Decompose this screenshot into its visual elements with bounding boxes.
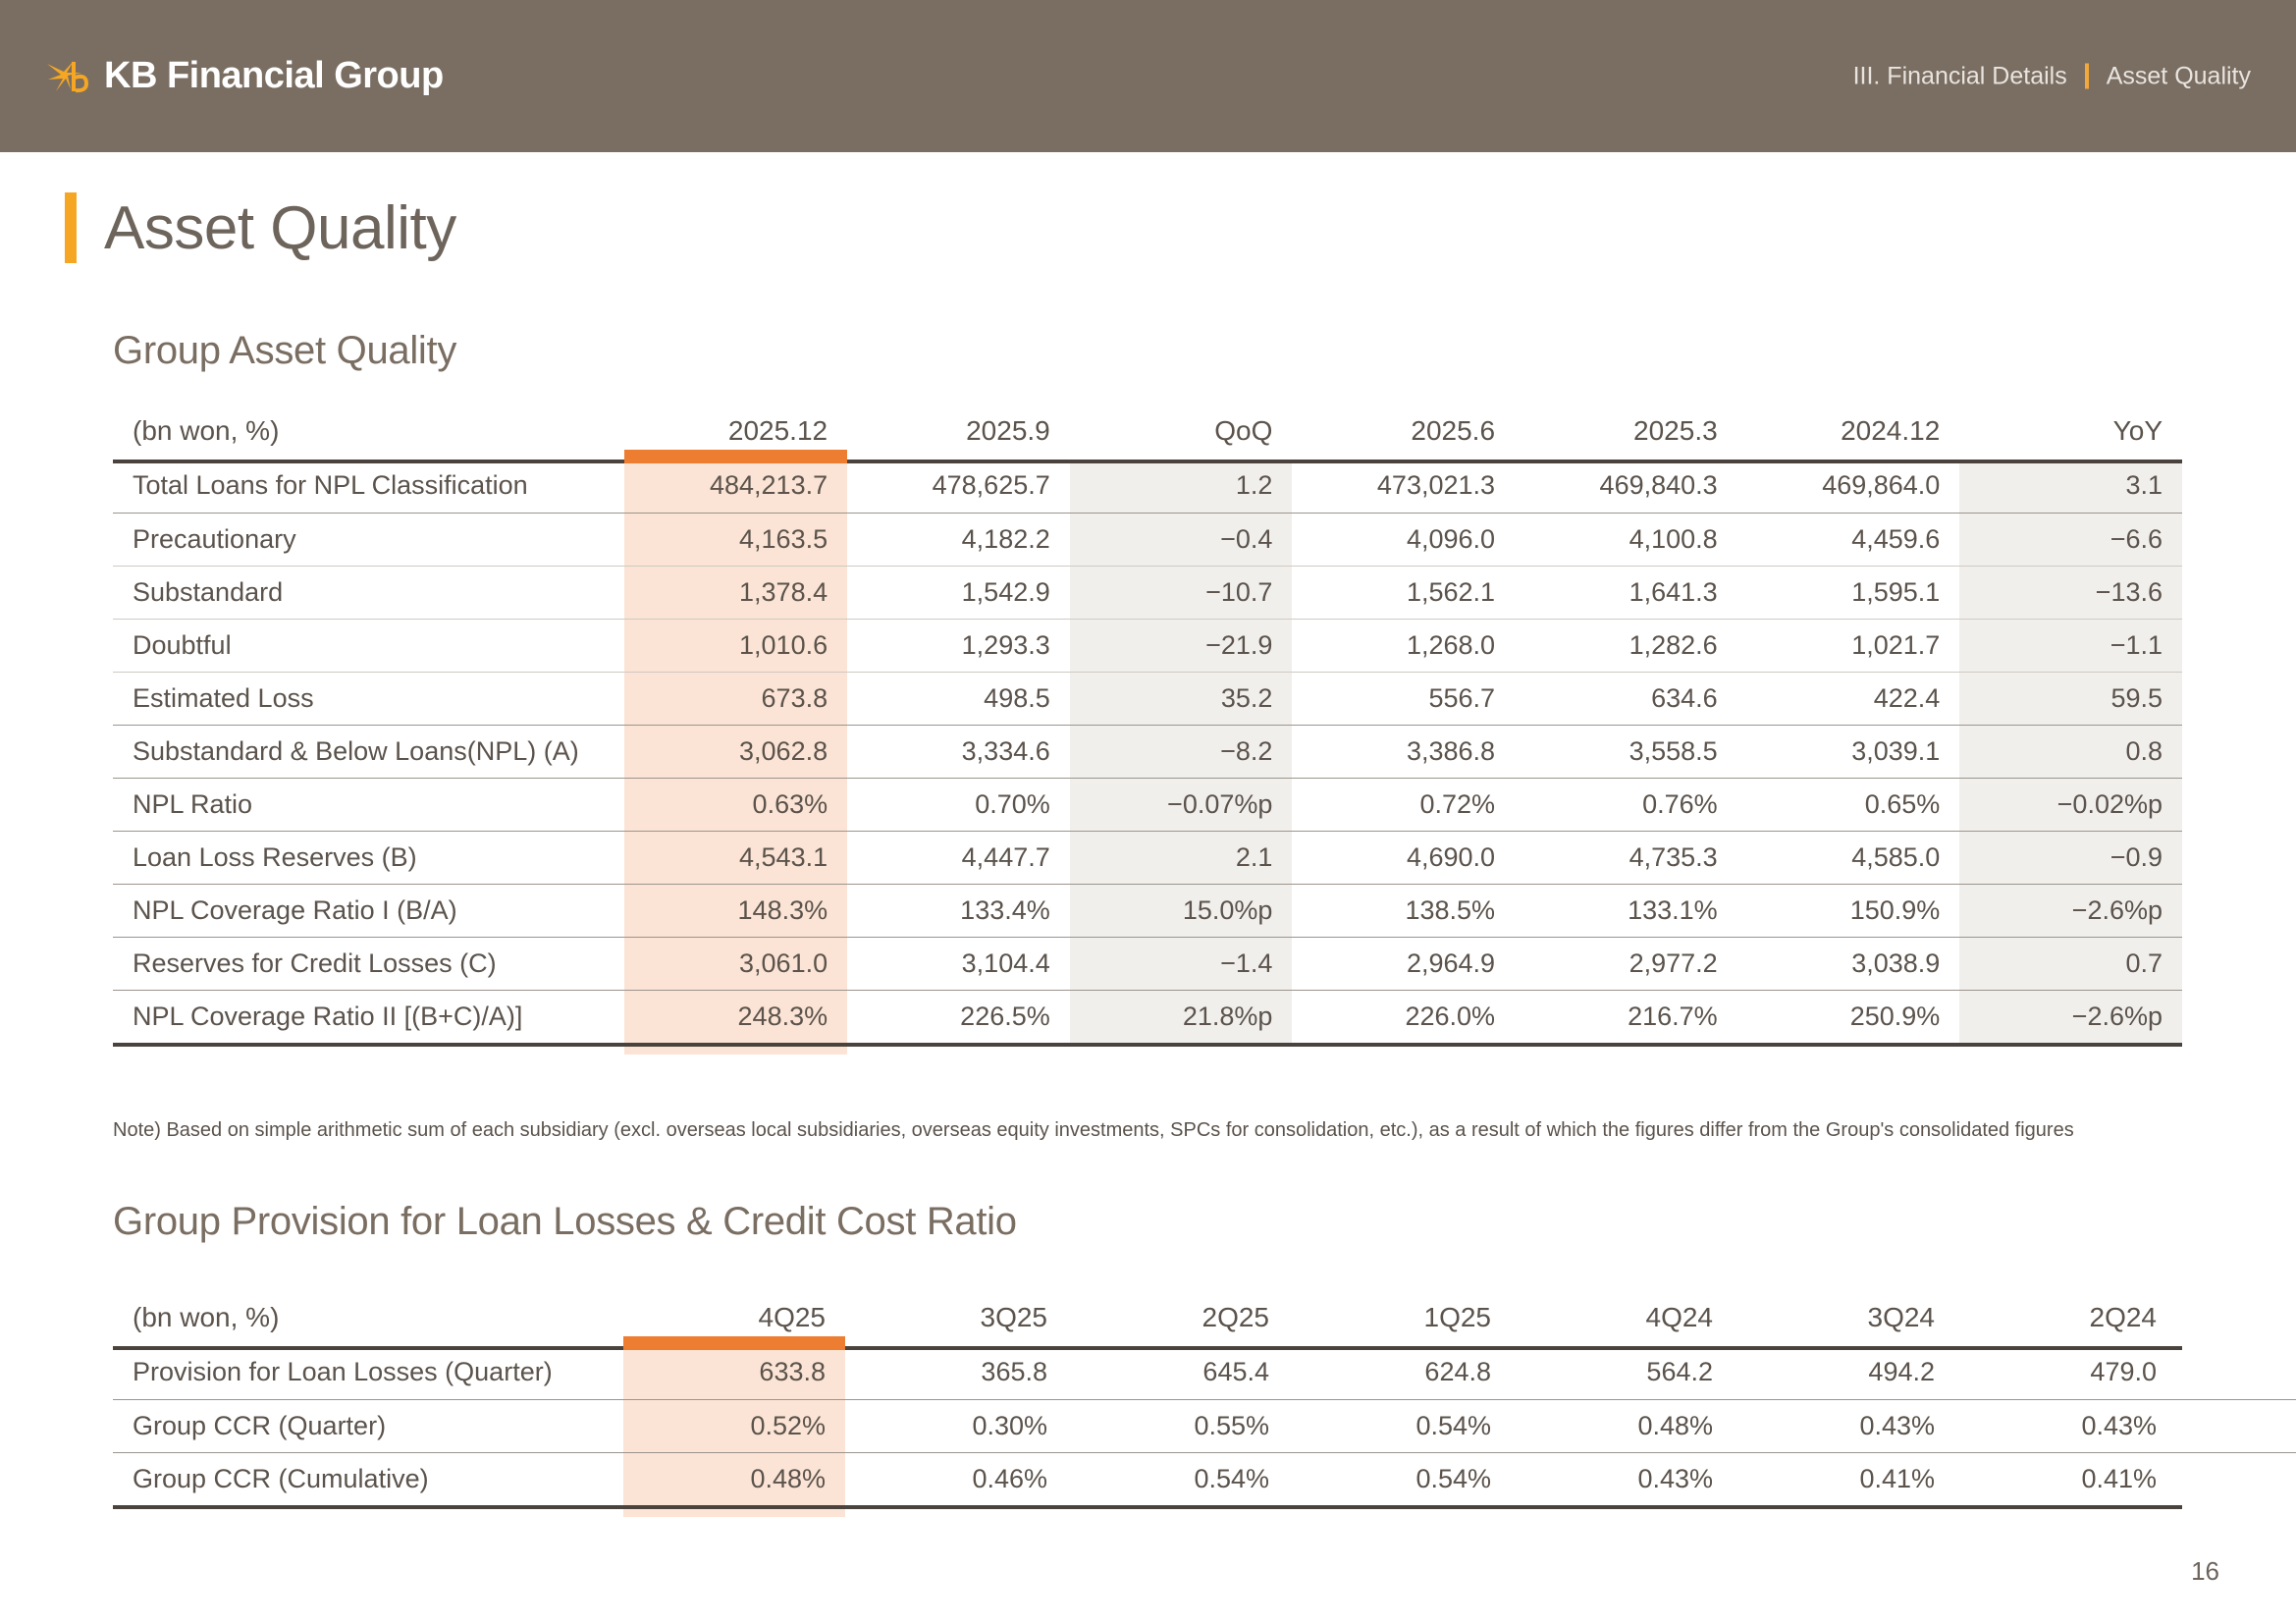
cell-2025-6: 138.5% xyxy=(1292,884,1515,937)
cell-qoq: 1.2 xyxy=(1070,460,1293,513)
cell-3q25: 0.46% xyxy=(845,1452,1067,1505)
column-header-2q24: 2Q24 xyxy=(1954,1289,2176,1346)
cell-2025-12: 4,543.1 xyxy=(624,831,847,884)
cell-2025-6: 473,021.3 xyxy=(1292,460,1515,513)
cell-yoy: 0.7 xyxy=(1959,937,2182,990)
cell-1q25: 0.54% xyxy=(1289,1399,1511,1452)
cell-1q25: 624.8 xyxy=(1289,1346,1511,1399)
cell-qoq: −21.9 xyxy=(1070,619,1293,672)
cell-2025-6: 0.72% xyxy=(1292,778,1515,831)
cell-2q25: 0.54% xyxy=(1067,1452,1289,1505)
row-label: Doubtful xyxy=(113,619,624,672)
cell-2q24: 0.41% xyxy=(1954,1452,2176,1505)
cell-2024-12: 4,585.0 xyxy=(1737,831,1960,884)
cell-2025-3: 216.7% xyxy=(1515,990,1737,1043)
cell-3q24: 0.41% xyxy=(1733,1452,1954,1505)
cell-2025-12: 1,378.4 xyxy=(624,566,847,619)
cell-2q25: 645.4 xyxy=(1067,1346,1289,1399)
highlight-column-cap xyxy=(624,1047,847,1055)
cell-3q24: 494.2 xyxy=(1733,1346,1954,1399)
cell-2025-9: 3,334.6 xyxy=(847,725,1070,778)
cell-qoq: 15.0%p xyxy=(1070,884,1293,937)
table-row: Group CCR (Cumulative)0.48%0.46%0.54%0.5… xyxy=(113,1452,2296,1505)
cell-2025-3: 1,282.6 xyxy=(1515,619,1737,672)
table-row: Substandard1,378.41,542.9−10.71,562.11,6… xyxy=(113,566,2182,619)
table-row: Loan Loss Reserves (B)4,543.14,447.72.14… xyxy=(113,831,2182,884)
column-header-qoq: QoQ xyxy=(1070,403,1293,460)
cell-qoq: 21.8%p xyxy=(1070,990,1293,1043)
cell-yoy: −2.6%p xyxy=(1959,990,2182,1043)
table-row: Total Loans for NPL Classification484,21… xyxy=(113,460,2182,513)
cell-yoy: −0.9 xyxy=(1959,831,2182,884)
breadcrumb-section: III. Financial Details xyxy=(1853,62,2067,90)
cell-yoy: 59.5 xyxy=(1959,672,2182,725)
page-title-block: Asset Quality xyxy=(65,192,456,263)
cell-1q24: 0.38% xyxy=(2176,1399,2296,1452)
title-accent-bar xyxy=(65,192,77,263)
cell-2024-12: 3,039.1 xyxy=(1737,725,1960,778)
cell-2025-9: 4,447.7 xyxy=(847,831,1070,884)
header-bar: KB Financial Group III. Financial Detail… xyxy=(0,0,2296,152)
cell-2025-9: 1,293.3 xyxy=(847,619,1070,672)
cell-qoq: −10.7 xyxy=(1070,566,1293,619)
cell-4q25: 633.8 xyxy=(623,1346,845,1399)
cell-2q24: 0.43% xyxy=(1954,1399,2176,1452)
row-label: NPL Coverage Ratio II [(B+C)/A)] xyxy=(113,990,624,1043)
cell-2024-12: 3,038.9 xyxy=(1737,937,1960,990)
column-header-1q24: 1Q24 xyxy=(2176,1289,2296,1346)
cell-2024-12: 1,021.7 xyxy=(1737,619,1960,672)
row-label: Provision for Loan Losses (Quarter) xyxy=(113,1346,623,1399)
cell-2025-3: 2,977.2 xyxy=(1515,937,1737,990)
footnote: Note) Based on simple arithmetic sum of … xyxy=(113,1119,2074,1142)
cell-qoq: −0.07%p xyxy=(1070,778,1293,831)
row-label: Precautionary xyxy=(113,513,624,566)
cell-2025-6: 3,386.8 xyxy=(1292,725,1515,778)
cell-2025-9: 226.5% xyxy=(847,990,1070,1043)
kb-star-logo-icon xyxy=(41,54,92,99)
cell-qoq: 2.1 xyxy=(1070,831,1293,884)
breadcrumb-separator-icon xyxy=(2085,64,2089,89)
table-header: (bn won, %)2025.122025.9QoQ2025.62025.32… xyxy=(113,403,2182,460)
cell-2024-12: 250.9% xyxy=(1737,990,1960,1043)
highlight-column-tab xyxy=(623,1336,845,1350)
cell-yoy: −1.1 xyxy=(1959,619,2182,672)
column-header-unit: (bn won, %) xyxy=(113,1289,623,1346)
cell-2025-12: 0.63% xyxy=(624,778,847,831)
group-provision-table-wrap: (bn won, %)4Q253Q252Q251Q254Q243Q242Q241… xyxy=(113,1289,2182,1505)
cell-2025-12: 673.8 xyxy=(624,672,847,725)
cell-2025-9: 3,104.4 xyxy=(847,937,1070,990)
cell-qoq: −8.2 xyxy=(1070,725,1293,778)
cell-2025-9: 4,182.2 xyxy=(847,513,1070,566)
cell-yoy: 0.8 xyxy=(1959,725,2182,778)
row-label: Substandard & Below Loans(NPL) (A) xyxy=(113,725,624,778)
cell-2024-12: 422.4 xyxy=(1737,672,1960,725)
cell-2025-6: 4,096.0 xyxy=(1292,513,1515,566)
section-heading-group-asset-quality: Group Asset Quality xyxy=(113,329,456,373)
table-row: Doubtful1,010.61,293.3−21.91,268.01,282.… xyxy=(113,619,2182,672)
column-header-1q25: 1Q25 xyxy=(1289,1289,1511,1346)
cell-2025-6: 1,268.0 xyxy=(1292,619,1515,672)
table-row: Estimated Loss673.8498.535.2556.7634.642… xyxy=(113,672,2182,725)
cell-2025-12: 3,061.0 xyxy=(624,937,847,990)
cell-2025-3: 3,558.5 xyxy=(1515,725,1737,778)
row-label: NPL Coverage Ratio I (B/A) xyxy=(113,884,624,937)
cell-2q25: 0.55% xyxy=(1067,1399,1289,1452)
row-label: Substandard xyxy=(113,566,624,619)
cell-2025-12: 248.3% xyxy=(624,990,847,1043)
cell-2025-3: 634.6 xyxy=(1515,672,1737,725)
highlight-column-tab xyxy=(624,450,847,463)
cell-1q25: 0.54% xyxy=(1289,1452,1511,1505)
cell-2024-12: 4,459.6 xyxy=(1737,513,1960,566)
cell-4q24: 564.2 xyxy=(1511,1346,1733,1399)
table-bottom-rule xyxy=(113,1505,2182,1509)
row-label: Group CCR (Cumulative) xyxy=(113,1452,623,1505)
table-row: NPL Coverage Ratio II [(B+C)/A)]248.3%22… xyxy=(113,990,2182,1043)
column-header-2025-9: 2025.9 xyxy=(847,403,1070,460)
brand-logo: KB Financial Group xyxy=(41,54,444,99)
cell-2024-12: 0.65% xyxy=(1737,778,1960,831)
group-asset-quality-table: (bn won, %)2025.122025.9QoQ2025.62025.32… xyxy=(113,403,2182,1043)
cell-2025-6: 226.0% xyxy=(1292,990,1515,1043)
cell-2025-3: 4,100.8 xyxy=(1515,513,1737,566)
group-provision-table: (bn won, %)4Q253Q252Q251Q254Q243Q242Q241… xyxy=(113,1289,2296,1505)
cell-2025-12: 484,213.7 xyxy=(624,460,847,513)
cell-3q25: 365.8 xyxy=(845,1346,1067,1399)
table-header-row: (bn won, %)4Q253Q252Q251Q254Q243Q242Q241… xyxy=(113,1289,2296,1346)
cell-2025-12: 4,163.5 xyxy=(624,513,847,566)
cell-4q24: 0.48% xyxy=(1511,1399,1733,1452)
table-row: Group CCR (Quarter)0.52%0.30%0.55%0.54%0… xyxy=(113,1399,2296,1452)
cell-1q24: 420.0 xyxy=(2176,1346,2296,1399)
cell-yoy: −2.6%p xyxy=(1959,884,2182,937)
cell-4q25: 0.48% xyxy=(623,1452,845,1505)
cell-2025-3: 1,641.3 xyxy=(1515,566,1737,619)
table-body: Provision for Loan Losses (Quarter)633.8… xyxy=(113,1346,2296,1505)
table-row: Precautionary4,163.54,182.2−0.44,096.04,… xyxy=(113,513,2182,566)
cell-2025-9: 133.4% xyxy=(847,884,1070,937)
table-top-rule xyxy=(113,460,2182,463)
breadcrumb-page: Asset Quality xyxy=(2107,62,2251,90)
table-row: Substandard & Below Loans(NPL) (A)3,062.… xyxy=(113,725,2182,778)
cell-2025-6: 4,690.0 xyxy=(1292,831,1515,884)
brand-name: KB Financial Group xyxy=(104,55,444,97)
cell-2025-9: 0.70% xyxy=(847,778,1070,831)
cell-2025-6: 2,964.9 xyxy=(1292,937,1515,990)
table-row: Provision for Loan Losses (Quarter)633.8… xyxy=(113,1346,2296,1399)
breadcrumb: III. Financial Details Asset Quality xyxy=(1853,62,2251,90)
cell-4q25: 0.52% xyxy=(623,1399,845,1452)
cell-2025-12: 1,010.6 xyxy=(624,619,847,672)
cell-2025-6: 1,562.1 xyxy=(1292,566,1515,619)
cell-4q24: 0.43% xyxy=(1511,1452,1733,1505)
cell-yoy: −13.6 xyxy=(1959,566,2182,619)
column-header-4q24: 4Q24 xyxy=(1511,1289,1733,1346)
cell-2q24: 479.0 xyxy=(1954,1346,2176,1399)
cell-yoy: −6.6 xyxy=(1959,513,2182,566)
table-header: (bn won, %)4Q253Q252Q251Q254Q243Q242Q241… xyxy=(113,1289,2296,1346)
table-body: Total Loans for NPL Classification484,21… xyxy=(113,460,2182,1043)
cell-2025-3: 0.76% xyxy=(1515,778,1737,831)
cell-2025-3: 4,735.3 xyxy=(1515,831,1737,884)
table-row: Reserves for Credit Losses (C)3,061.03,1… xyxy=(113,937,2182,990)
cell-2024-12: 1,595.1 xyxy=(1737,566,1960,619)
cell-yoy: −0.02%p xyxy=(1959,778,2182,831)
row-label: Loan Loss Reserves (B) xyxy=(113,831,624,884)
cell-3q25: 0.30% xyxy=(845,1399,1067,1452)
row-label: Reserves for Credit Losses (C) xyxy=(113,937,624,990)
cell-2025-9: 1,542.9 xyxy=(847,566,1070,619)
cell-2025-9: 498.5 xyxy=(847,672,1070,725)
row-label: NPL Ratio xyxy=(113,778,624,831)
section-heading-group-provision: Group Provision for Loan Losses & Credit… xyxy=(113,1200,1017,1244)
cell-yoy: 3.1 xyxy=(1959,460,2182,513)
cell-3q24: 0.43% xyxy=(1733,1399,1954,1452)
column-header-2q25: 2Q25 xyxy=(1067,1289,1289,1346)
column-header-3q24: 3Q24 xyxy=(1733,1289,1954,1346)
cell-2025-12: 3,062.8 xyxy=(624,725,847,778)
cell-2025-3: 469,840.3 xyxy=(1515,460,1737,513)
cell-2024-12: 150.9% xyxy=(1737,884,1960,937)
cell-2025-9: 478,625.7 xyxy=(847,460,1070,513)
row-label: Group CCR (Quarter) xyxy=(113,1399,623,1452)
column-header-yoy: YoY xyxy=(1959,403,2182,460)
cell-qoq: −0.4 xyxy=(1070,513,1293,566)
table-row: NPL Coverage Ratio I (B/A)148.3%133.4%15… xyxy=(113,884,2182,937)
table-header-row: (bn won, %)2025.122025.9QoQ2025.62025.32… xyxy=(113,403,2182,460)
row-label: Estimated Loss xyxy=(113,672,624,725)
cell-2025-3: 133.1% xyxy=(1515,884,1737,937)
cell-1q24: 0.38% xyxy=(2176,1452,2296,1505)
page-number: 16 xyxy=(2191,1556,2219,1587)
cell-2025-12: 148.3% xyxy=(624,884,847,937)
table-bottom-rule xyxy=(113,1043,2182,1047)
row-label: Total Loans for NPL Classification xyxy=(113,460,624,513)
table-row: NPL Ratio0.63%0.70%−0.07%p0.72%0.76%0.65… xyxy=(113,778,2182,831)
column-header-unit: (bn won, %) xyxy=(113,403,624,460)
column-header-2024-12: 2024.12 xyxy=(1737,403,1960,460)
cell-qoq: −1.4 xyxy=(1070,937,1293,990)
group-asset-quality-table-wrap: (bn won, %)2025.122025.9QoQ2025.62025.32… xyxy=(113,403,2182,1043)
column-header-2025-3: 2025.3 xyxy=(1515,403,1737,460)
cell-2024-12: 469,864.0 xyxy=(1737,460,1960,513)
column-header-2025-6: 2025.6 xyxy=(1292,403,1515,460)
table-top-rule xyxy=(113,1346,2182,1350)
cell-qoq: 35.2 xyxy=(1070,672,1293,725)
highlight-column-cap xyxy=(623,1509,845,1517)
cell-2025-6: 556.7 xyxy=(1292,672,1515,725)
column-header-3q25: 3Q25 xyxy=(845,1289,1067,1346)
page-title: Asset Quality xyxy=(104,193,456,263)
